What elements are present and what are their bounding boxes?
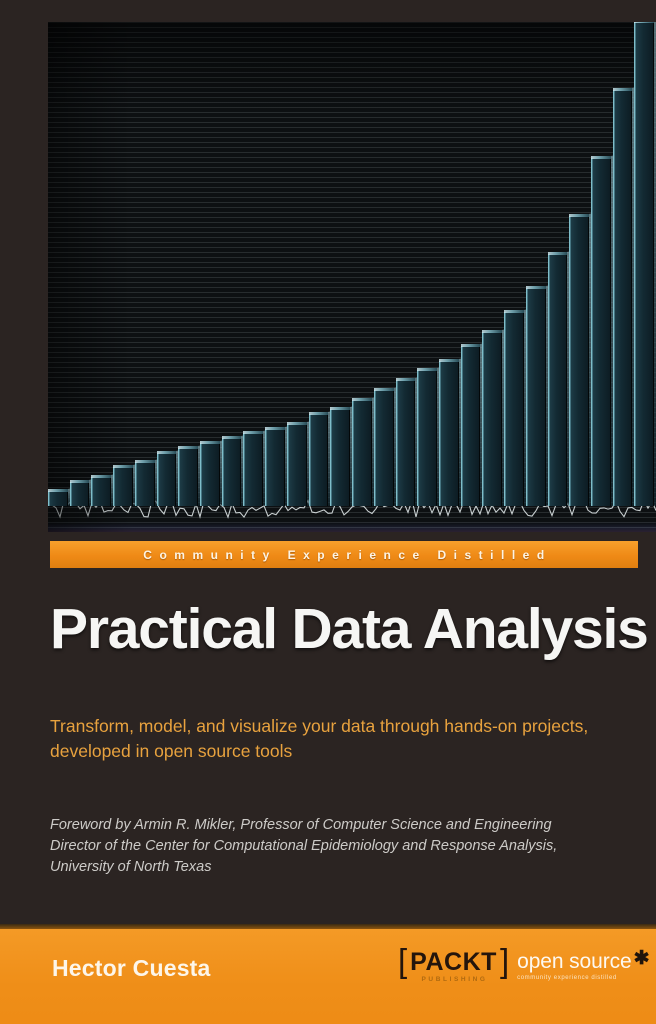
chart-bar [613, 90, 633, 506]
chart-bar [374, 390, 394, 506]
bracket-left-icon: [ [398, 948, 407, 973]
chart-bar [396, 380, 416, 506]
author-name: Hector Cuesta [52, 955, 211, 982]
packt-name: PACKT [410, 950, 497, 975]
chart-bar [439, 361, 459, 506]
chart-bar [461, 346, 481, 506]
book-cover: Community Experience Distilled Practical… [0, 0, 656, 1024]
book-title: Practical Data Analysis [50, 596, 648, 662]
open-source-mark: open source ✱ community experience disti… [517, 951, 649, 982]
chart-bar [309, 414, 329, 506]
asterisk-icon: ✱ [634, 951, 650, 966]
chart-floor [48, 522, 656, 532]
open-source-label: open source [517, 951, 631, 973]
open-source-row: open source ✱ [517, 951, 649, 973]
chart-bar [135, 462, 155, 506]
chart-bar [504, 312, 524, 506]
chart-bar [91, 477, 111, 506]
foreword-block: Foreword by Armin R. Mikler, Professor o… [50, 815, 625, 878]
chart-bar [178, 448, 198, 506]
foreword-line-2: Director of the Center for Computational… [50, 836, 625, 857]
chart-bar [222, 438, 242, 506]
chart-bar [200, 443, 220, 506]
chart-bar [243, 433, 263, 506]
foreword-line-1: Foreword by Armin R. Mikler, Professor o… [50, 815, 625, 836]
chart-bar [569, 216, 589, 506]
packt-logo: [ PACKT PUBLISHING ] open source ✱ commu… [398, 950, 650, 984]
chart-bar [330, 409, 350, 506]
community-banner: Community Experience Distilled [50, 541, 638, 568]
book-subtitle: Transform, model, and visualize your dat… [50, 714, 595, 764]
chart-bar [113, 467, 133, 506]
chart-bar [157, 453, 177, 506]
chart-plot-area [48, 22, 656, 532]
chart-bar [265, 429, 285, 506]
chart-bars [48, 22, 656, 506]
foreword-line-3: University of North Texas [50, 857, 625, 878]
cover-artwork-bar-chart [48, 22, 656, 532]
open-source-tagline: community experience distilled [517, 974, 649, 982]
community-banner-label: Community Experience Distilled [136, 548, 551, 562]
chart-bar [48, 491, 68, 506]
packt-publishing-label: PUBLISHING [420, 976, 488, 984]
chart-bar [352, 400, 372, 506]
chart-bar [548, 254, 568, 506]
chart-bar [526, 288, 546, 506]
bracket-right-icon: ] [500, 948, 509, 973]
chart-bar [591, 158, 611, 506]
chart-bar [634, 22, 654, 506]
chart-bar [482, 332, 502, 506]
chart-bar [287, 424, 307, 506]
packt-wordmark: PACKT PUBLISHING [408, 950, 499, 984]
chart-bar [417, 370, 437, 506]
chart-bar [70, 482, 90, 506]
